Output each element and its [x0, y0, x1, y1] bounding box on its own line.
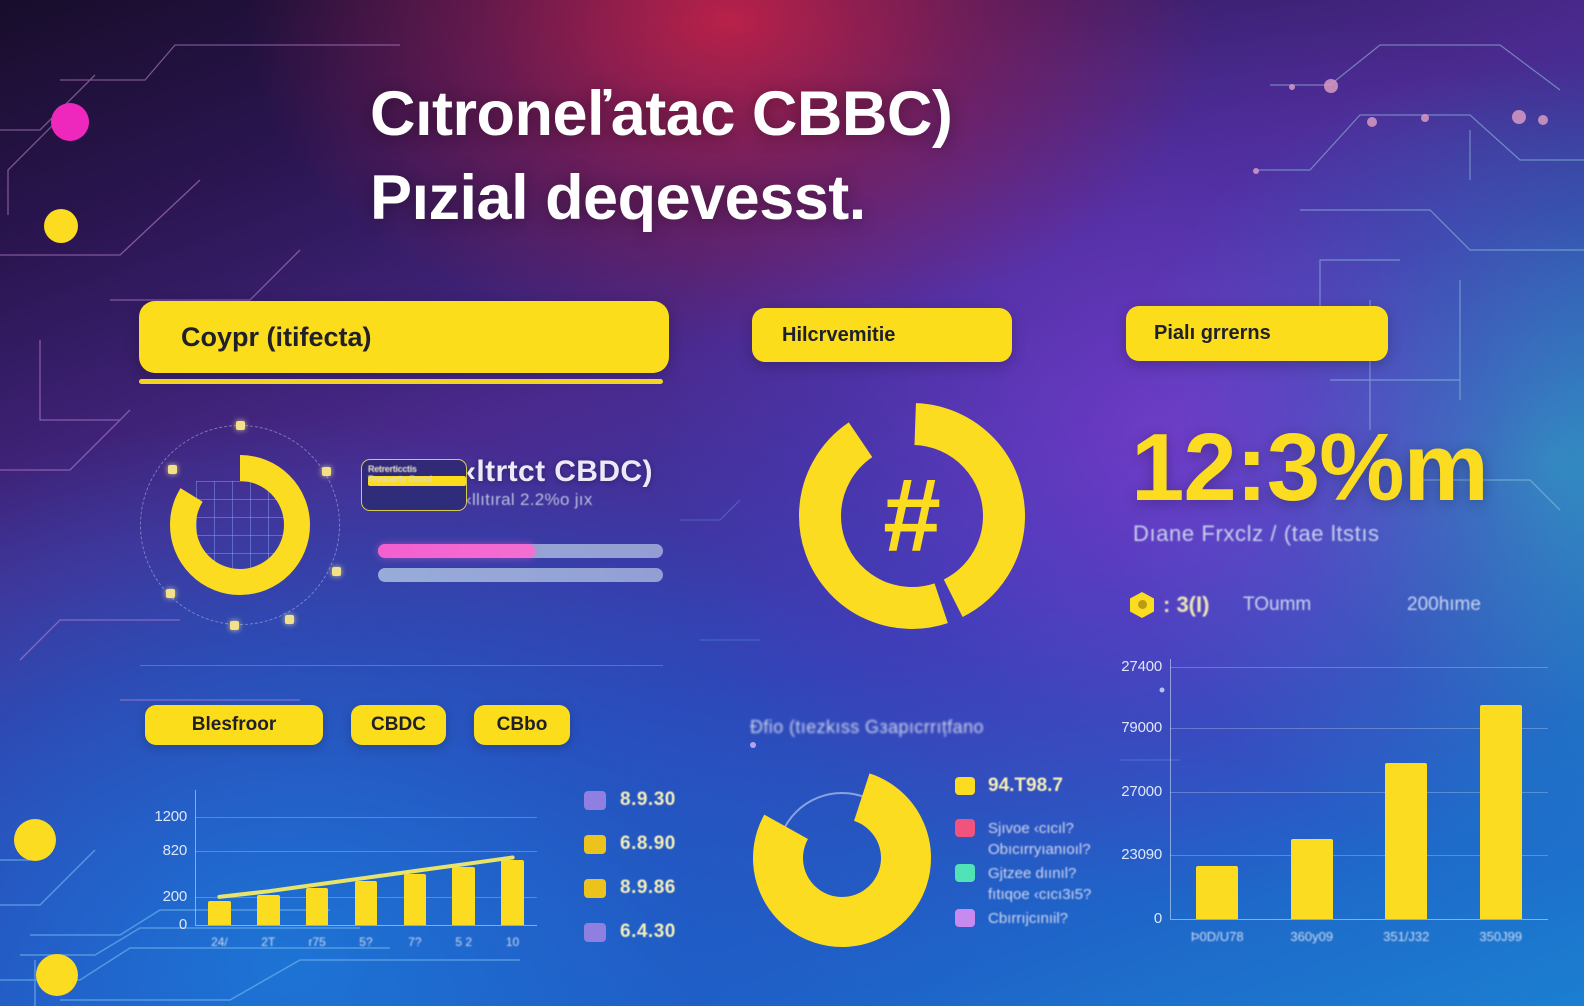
primary-tab-underline [139, 379, 663, 384]
legend-swatch [955, 819, 975, 837]
y-axis-tick-label: 820 [145, 842, 187, 859]
left-chart-legend: 8.9.306.8.908.9.866.4.30 [584, 778, 676, 954]
dashboard-canvas: Cıtroneľatac CBBC) Pızial deqevesst. Coy… [0, 0, 1584, 1006]
filter-tab-2[interactable]: CBbo [474, 705, 570, 745]
x-axis-tick-label: 351/J32 [1359, 929, 1454, 944]
bar [208, 901, 230, 925]
bar [501, 860, 523, 925]
legend-label: Cbırrıjcınıil? [988, 910, 1068, 927]
gridline [195, 817, 537, 818]
legend-label: 8.9.30 [620, 789, 676, 811]
x-axis-tick-label: 10 [488, 935, 537, 949]
secondary-tab-pill[interactable]: Hilcrvemitie [752, 308, 1012, 362]
page-title-line-2: Pızial deqevesst. [370, 156, 1320, 240]
x-axis-tick-label: Þ0D/U78 [1170, 929, 1265, 944]
x-axis-tick-label: 7? [390, 935, 439, 949]
orbit-node [322, 467, 331, 476]
legend-spacer [955, 801, 1091, 819]
center-caption: Ðfio (tıezkıss Gзapıcrrıțfano [750, 717, 984, 738]
y-axis-tick-label: 0 [145, 916, 187, 933]
legend-label: Sjıvoe ‹cıcıl? [988, 820, 1074, 837]
x-axis-tick-label: 5? [342, 935, 391, 949]
y-axis-tick-label: 79000 [1118, 719, 1162, 736]
legend-swatch [584, 791, 606, 810]
y-axis-line [195, 790, 196, 925]
left-donut-chart [168, 453, 312, 597]
legend-swatch [584, 879, 606, 898]
legend-label: 6.8.90 [620, 833, 676, 855]
legend-swatch [955, 864, 975, 882]
headline-metric: 12:3%m [1131, 413, 1488, 523]
legend-item[interactable]: 6.4.30 [584, 910, 676, 954]
progress-fill-primary [378, 544, 535, 558]
y-axis-tick-label: 200 [145, 888, 187, 905]
legend-label: 94.T98.7 [988, 775, 1063, 797]
bar [306, 888, 328, 925]
kpi-sublabel: ‹llıtıral 2.2%o jıx [466, 490, 593, 510]
x-axis-line [1170, 919, 1548, 920]
gridline [1170, 667, 1548, 668]
legend-item[interactable]: 8.9.30 [584, 778, 676, 822]
legend-label: 8.9.86 [620, 877, 676, 899]
y-axis-tick-label: 27400 [1118, 658, 1162, 675]
legend-item[interactable]: 6.8.90 [584, 822, 676, 866]
y-axis-tick-label: 27000 [1118, 783, 1162, 800]
legend-sublabel: Obıcırryıanıoıl? [988, 841, 1091, 858]
legend-label: Gjtzee dıınıl? [988, 865, 1076, 882]
tertiary-tab-pill[interactable]: Pialı grrerns [1126, 306, 1388, 361]
center-chart-legend: 94.T98.7Sjıvoe ‹cıcıl?Obıcırryıanıoıl?Gj… [955, 775, 1091, 931]
bar [1480, 705, 1522, 919]
page-title-line-1: Cıtroneľatac CBBC) [370, 79, 952, 149]
x-axis-tick-label: 24/ [195, 935, 244, 949]
progress-track-secondary[interactable] [378, 568, 663, 582]
legend-label: 6.4.30 [620, 921, 676, 943]
left-bar-chart: 0200820120024/2Tr755?7?5 210 [145, 780, 545, 965]
page-title: Cıtroneľatac CBBC) Pızial deqevesst. [370, 72, 1320, 241]
primary-tab-pill[interactable]: Coypr (itifecta) [139, 301, 669, 373]
legend-item[interactable]: Sjıvoe ‹cıcıl? [955, 819, 1091, 837]
mini-card-top-label: Retrerticctis [368, 464, 460, 474]
orbit-node [230, 621, 239, 630]
mini-card-bottom-label: Trvouarty Gzoui [368, 474, 460, 484]
x-axis-tick-label: 5 2 [439, 935, 488, 949]
deco-dot-small-2 [750, 742, 756, 748]
headline-metric-sublabel: Dıane Frxclz / (tae ltstıs [1133, 521, 1380, 547]
hash-icon: # [883, 464, 941, 568]
filter-tab-0[interactable]: Blesfroor [145, 705, 323, 745]
filter-tab-1[interactable]: CBDC [351, 705, 446, 745]
left-section-divider [140, 665, 663, 666]
orbit-node [236, 421, 245, 430]
x-axis-line [195, 925, 537, 926]
legend-item[interactable]: Cbırrıjcınıil? [955, 909, 1091, 927]
bar [1291, 839, 1333, 919]
deco-dot-yellow-2 [14, 819, 56, 861]
bar [1196, 866, 1238, 919]
mini-stat-card[interactable]: Retrerticctis Trvouarty Gzoui [361, 459, 467, 511]
stat-right-label: 200hıme [1407, 594, 1481, 616]
y-axis-line [1170, 659, 1171, 919]
left-filter-tabs: Blesfroor CBDC CBbo [145, 705, 570, 745]
x-axis-tick-label: 350J99 [1454, 929, 1549, 944]
deco-dot-yellow-3 [36, 954, 78, 996]
left-donut-widget [140, 425, 340, 625]
bar [452, 867, 474, 926]
bar [257, 895, 279, 925]
hexagon-icon-center [1138, 600, 1147, 609]
x-axis-tick-label: 360y09 [1265, 929, 1360, 944]
legend-swatch [955, 777, 975, 795]
bar [355, 881, 377, 925]
stat-value: : 3(I) [1163, 592, 1209, 618]
legend-item[interactable]: Gjtzee dıınıl? [955, 864, 1091, 882]
y-axis-tick-label: 0 [1118, 910, 1162, 927]
gridline [195, 851, 537, 852]
stat-middle-label: TOumm [1243, 594, 1311, 616]
orbit-node [332, 567, 341, 576]
right-bar-chart: 023090270007900027400Þ0D/U78360y09351/J3… [1118, 645, 1558, 965]
kpi-label: ‹ltrtct CBDC) [466, 455, 653, 489]
y-axis-tick-label: 23090 [1118, 846, 1162, 863]
x-axis-tick-label: r75 [293, 935, 342, 949]
legend-swatch [955, 909, 975, 927]
bar [404, 874, 426, 925]
legend-swatch [584, 923, 606, 942]
orbit-node [285, 615, 294, 624]
x-axis-tick-label: 2T [244, 935, 293, 949]
legend-item[interactable]: 94.T98.7 [955, 775, 1091, 797]
deco-dot-magenta [51, 103, 89, 141]
legend-sublabel: fıtıqoe ‹cıcı3ı5? [988, 886, 1091, 903]
y-axis-tick-label: 1200 [145, 808, 187, 825]
bar [1385, 763, 1427, 919]
legend-swatch [584, 835, 606, 854]
center-small-donut-chart [752, 768, 932, 948]
deco-dot-yellow-1 [44, 209, 78, 243]
legend-item[interactable]: 8.9.86 [584, 866, 676, 910]
